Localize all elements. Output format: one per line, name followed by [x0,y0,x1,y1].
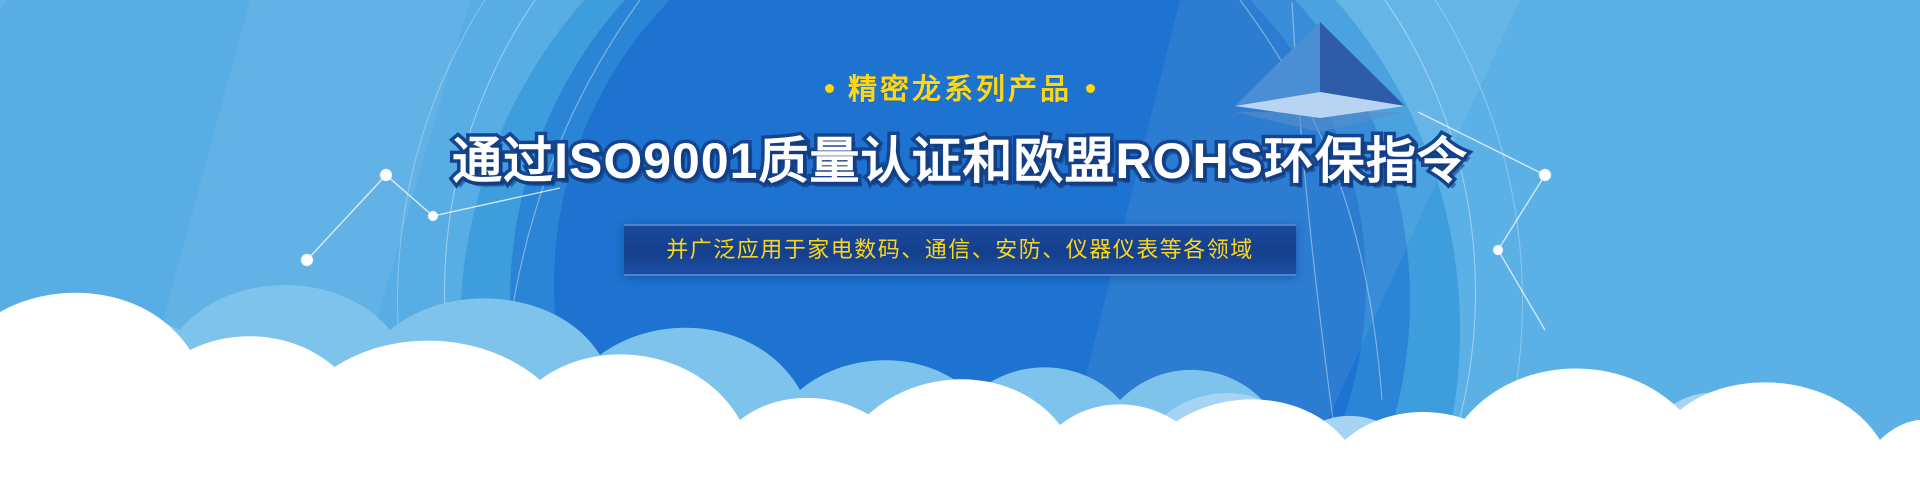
eyebrow-text: 精密龙系列产品 [848,74,1072,106]
bullet-dot-left-icon [825,84,834,93]
banner-eyebrow: 精密龙系列产品 [811,76,1109,105]
pyramid-icon [1195,14,1445,134]
banner-subtitle-bar: 并广泛应用于家电数码、通信、安防、仪器仪表等各领域 [624,224,1296,276]
promo-banner: 精密龙系列产品 通过ISO9001质量认证和欧盟ROHS环保指令 并广泛应用于家… [0,0,1920,480]
cloud-graphic [0,260,1920,480]
banner-subtitle-text: 并广泛应用于家电数码、通信、安防、仪器仪表等各领域 [666,237,1254,263]
bullet-dot-right-icon [1086,84,1095,93]
pyramid-right-face [1320,22,1405,106]
pyramid-left-face [1235,22,1320,106]
banner-headline: 通过ISO9001质量认证和欧盟ROHS环保指令 [452,135,1468,188]
